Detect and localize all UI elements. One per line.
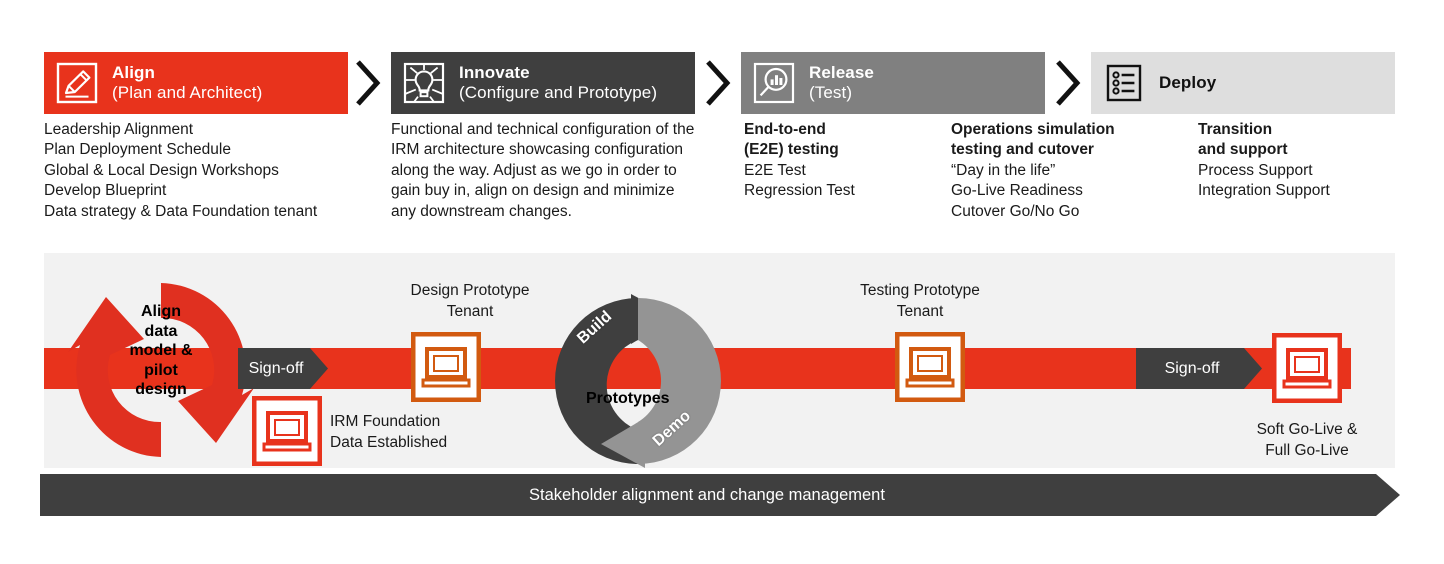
testing-prototype-laptop [895, 332, 965, 402]
bullet: E2E Test [744, 161, 855, 181]
caption-line: Tenant [810, 302, 1030, 323]
process-diagram: Align (Plan and Architect) Innovate (Con… [0, 0, 1444, 564]
align-cycle-label: Align data model & pilot design [96, 302, 226, 400]
bullet: Regression Test [744, 181, 855, 201]
phase-deploy-title: Deploy [1159, 73, 1216, 93]
align-cycle: Align data model & pilot design [66, 275, 256, 465]
bullet: Develop Blueprint [44, 181, 317, 201]
bullet: Integration Support [1198, 181, 1330, 201]
sign-off-1[interactable]: Sign-off [238, 348, 328, 389]
phase-innovate-title: Innovate [459, 63, 657, 83]
chevron-right-separator-1 [353, 57, 383, 109]
bullet: (E2E) testing [744, 140, 855, 160]
go-live-caption: Soft Go-Live & Full Go-Live [1197, 420, 1417, 461]
testing-prototype-caption: Testing Prototype Tenant [810, 281, 1030, 322]
phase-release-header: Release (Test) [741, 52, 1045, 114]
phase-release-title: Release [809, 63, 874, 83]
phase-release-bullets-col2: Operations simulation testing and cutove… [951, 120, 1115, 222]
magnifier-chart-icon [752, 61, 796, 105]
phase-align-title: Align [112, 63, 262, 83]
bullet: End-to-end [744, 120, 855, 140]
irm-foundation-laptop [252, 396, 322, 466]
chevron-right-separator-2 [703, 57, 733, 109]
sign-off-2[interactable]: Sign-off [1136, 348, 1262, 389]
align-cycle-line: design [96, 380, 226, 400]
bullet: Plan Deployment Schedule [44, 140, 317, 160]
phase-align-header: Align (Plan and Architect) [44, 52, 348, 114]
phase-release-subtitle: (Test) [809, 83, 874, 103]
irm-foundation-caption: IRM Foundation Data Established [330, 412, 447, 453]
phase-release-bullets-col1: End-to-end (E2E) testing E2E Test Regres… [744, 120, 855, 202]
align-cycle-line: Align [96, 302, 226, 322]
pencil-square-icon [55, 61, 99, 105]
chevron-right-separator-3 [1053, 57, 1083, 109]
stakeholder-bar-label: Stakeholder alignment and change managem… [40, 474, 1400, 516]
bullet: Data strategy & Data Foundation tenant [44, 202, 317, 222]
phase-deploy: Deploy [1091, 52, 1395, 114]
bullet: Transition [1198, 120, 1330, 140]
phase-innovate: Innovate (Configure and Prototype) [391, 52, 695, 114]
sign-off-1-label: Sign-off [238, 348, 328, 389]
bullet: Global & Local Design Workshops [44, 161, 317, 181]
bullet: and support [1198, 140, 1330, 160]
caption-line: Soft Go-Live & [1197, 420, 1417, 441]
phase-align: Align (Plan and Architect) [44, 52, 348, 114]
go-live-laptop [1272, 333, 1342, 403]
phase-deploy-bullets: Transition and support Process Support I… [1198, 120, 1330, 202]
phase-deploy-header: Deploy [1091, 52, 1395, 114]
caption-line: Testing Prototype [810, 281, 1030, 302]
bullet: “Day in the life” [951, 161, 1115, 181]
checklist-square-icon [1102, 61, 1146, 105]
bullet: Go-Live Readiness [951, 181, 1115, 201]
bullet: Operations simulation [951, 120, 1115, 140]
phase-align-bullets: Leadership Alignment Plan Deployment Sch… [44, 120, 317, 222]
align-cycle-line: data [96, 322, 226, 342]
phase-innovate-subtitle: (Configure and Prototype) [459, 83, 657, 103]
lightbulb-square-icon [402, 61, 446, 105]
bullet: Leadership Alignment [44, 120, 317, 140]
caption-line: Data Established [330, 433, 447, 454]
caption-line: Full Go-Live [1197, 441, 1417, 462]
align-cycle-line: pilot [96, 361, 226, 381]
prototype-cycle-center-label: Prototypes [586, 390, 670, 408]
phase-align-subtitle: (Plan and Architect) [112, 83, 262, 103]
design-prototype-laptop [411, 332, 481, 402]
sign-off-2-label: Sign-off [1136, 348, 1262, 389]
bullet: testing and cutover [951, 140, 1115, 160]
caption-line: IRM Foundation [330, 412, 447, 433]
align-cycle-line: model & [96, 341, 226, 361]
prototype-cycle: Build Demo [549, 292, 727, 470]
bullet: Cutover Go/No Go [951, 202, 1115, 222]
bullet: Process Support [1198, 161, 1330, 181]
phase-innovate-paragraph: Functional and technical configuration o… [391, 120, 699, 222]
stakeholder-bar: Stakeholder alignment and change managem… [40, 474, 1400, 516]
phase-innovate-header: Innovate (Configure and Prototype) [391, 52, 695, 114]
phase-release: Release (Test) [741, 52, 1045, 114]
